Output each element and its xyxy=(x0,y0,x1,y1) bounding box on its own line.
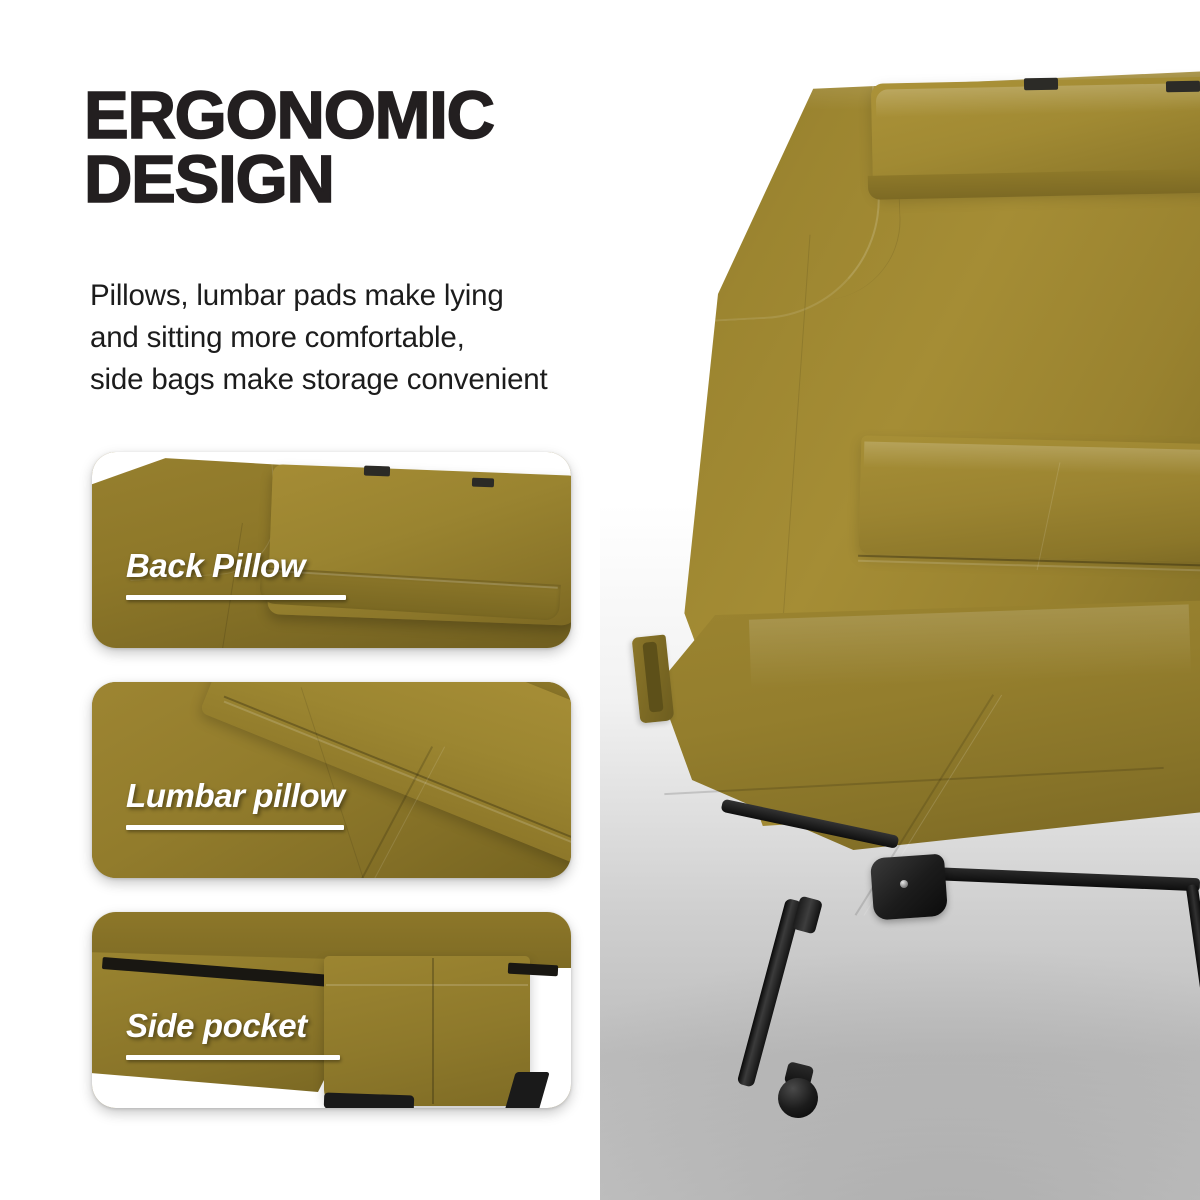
side-pocket-pouch xyxy=(324,956,530,1106)
main-product-image xyxy=(600,0,1200,1200)
hub-joint xyxy=(870,853,948,920)
feature-card-lumbar-pillow[interactable]: Lumbar pillow xyxy=(92,682,571,878)
subheading-description: Pillows, lumbar pads make lying and sitt… xyxy=(90,275,670,401)
page-title: ERGONOMIC DESIGN xyxy=(84,84,604,211)
subcopy-line-3: side bags make storage convenient xyxy=(90,359,670,401)
strap-tab-icon xyxy=(1024,78,1058,91)
product-feature-infographic: ERGONOMIC DESIGN Pillows, lumbar pads ma… xyxy=(0,0,1200,1200)
back-pillow-photo xyxy=(92,452,571,648)
rear-leg xyxy=(1186,884,1200,1034)
frame-foot xyxy=(324,1092,415,1108)
lumbar-pillow-photo xyxy=(92,682,571,878)
strap-tab-icon xyxy=(472,478,494,488)
headline-line-2: DESIGN xyxy=(84,148,604,212)
strap-tab-icon xyxy=(364,466,390,477)
rubber-foot xyxy=(775,1075,820,1120)
feature-card-side-pocket[interactable]: Side pocket xyxy=(92,912,571,1108)
rivet-icon xyxy=(900,880,908,888)
feature-card-back-pillow[interactable]: Back Pillow xyxy=(92,452,571,648)
subcopy-line-2: and sitting more comfortable, xyxy=(90,317,670,359)
subcopy-line-1: Pillows, lumbar pads make lying xyxy=(90,275,670,317)
strap-tab-icon xyxy=(1166,81,1200,93)
side-pocket-photo xyxy=(92,912,571,1108)
